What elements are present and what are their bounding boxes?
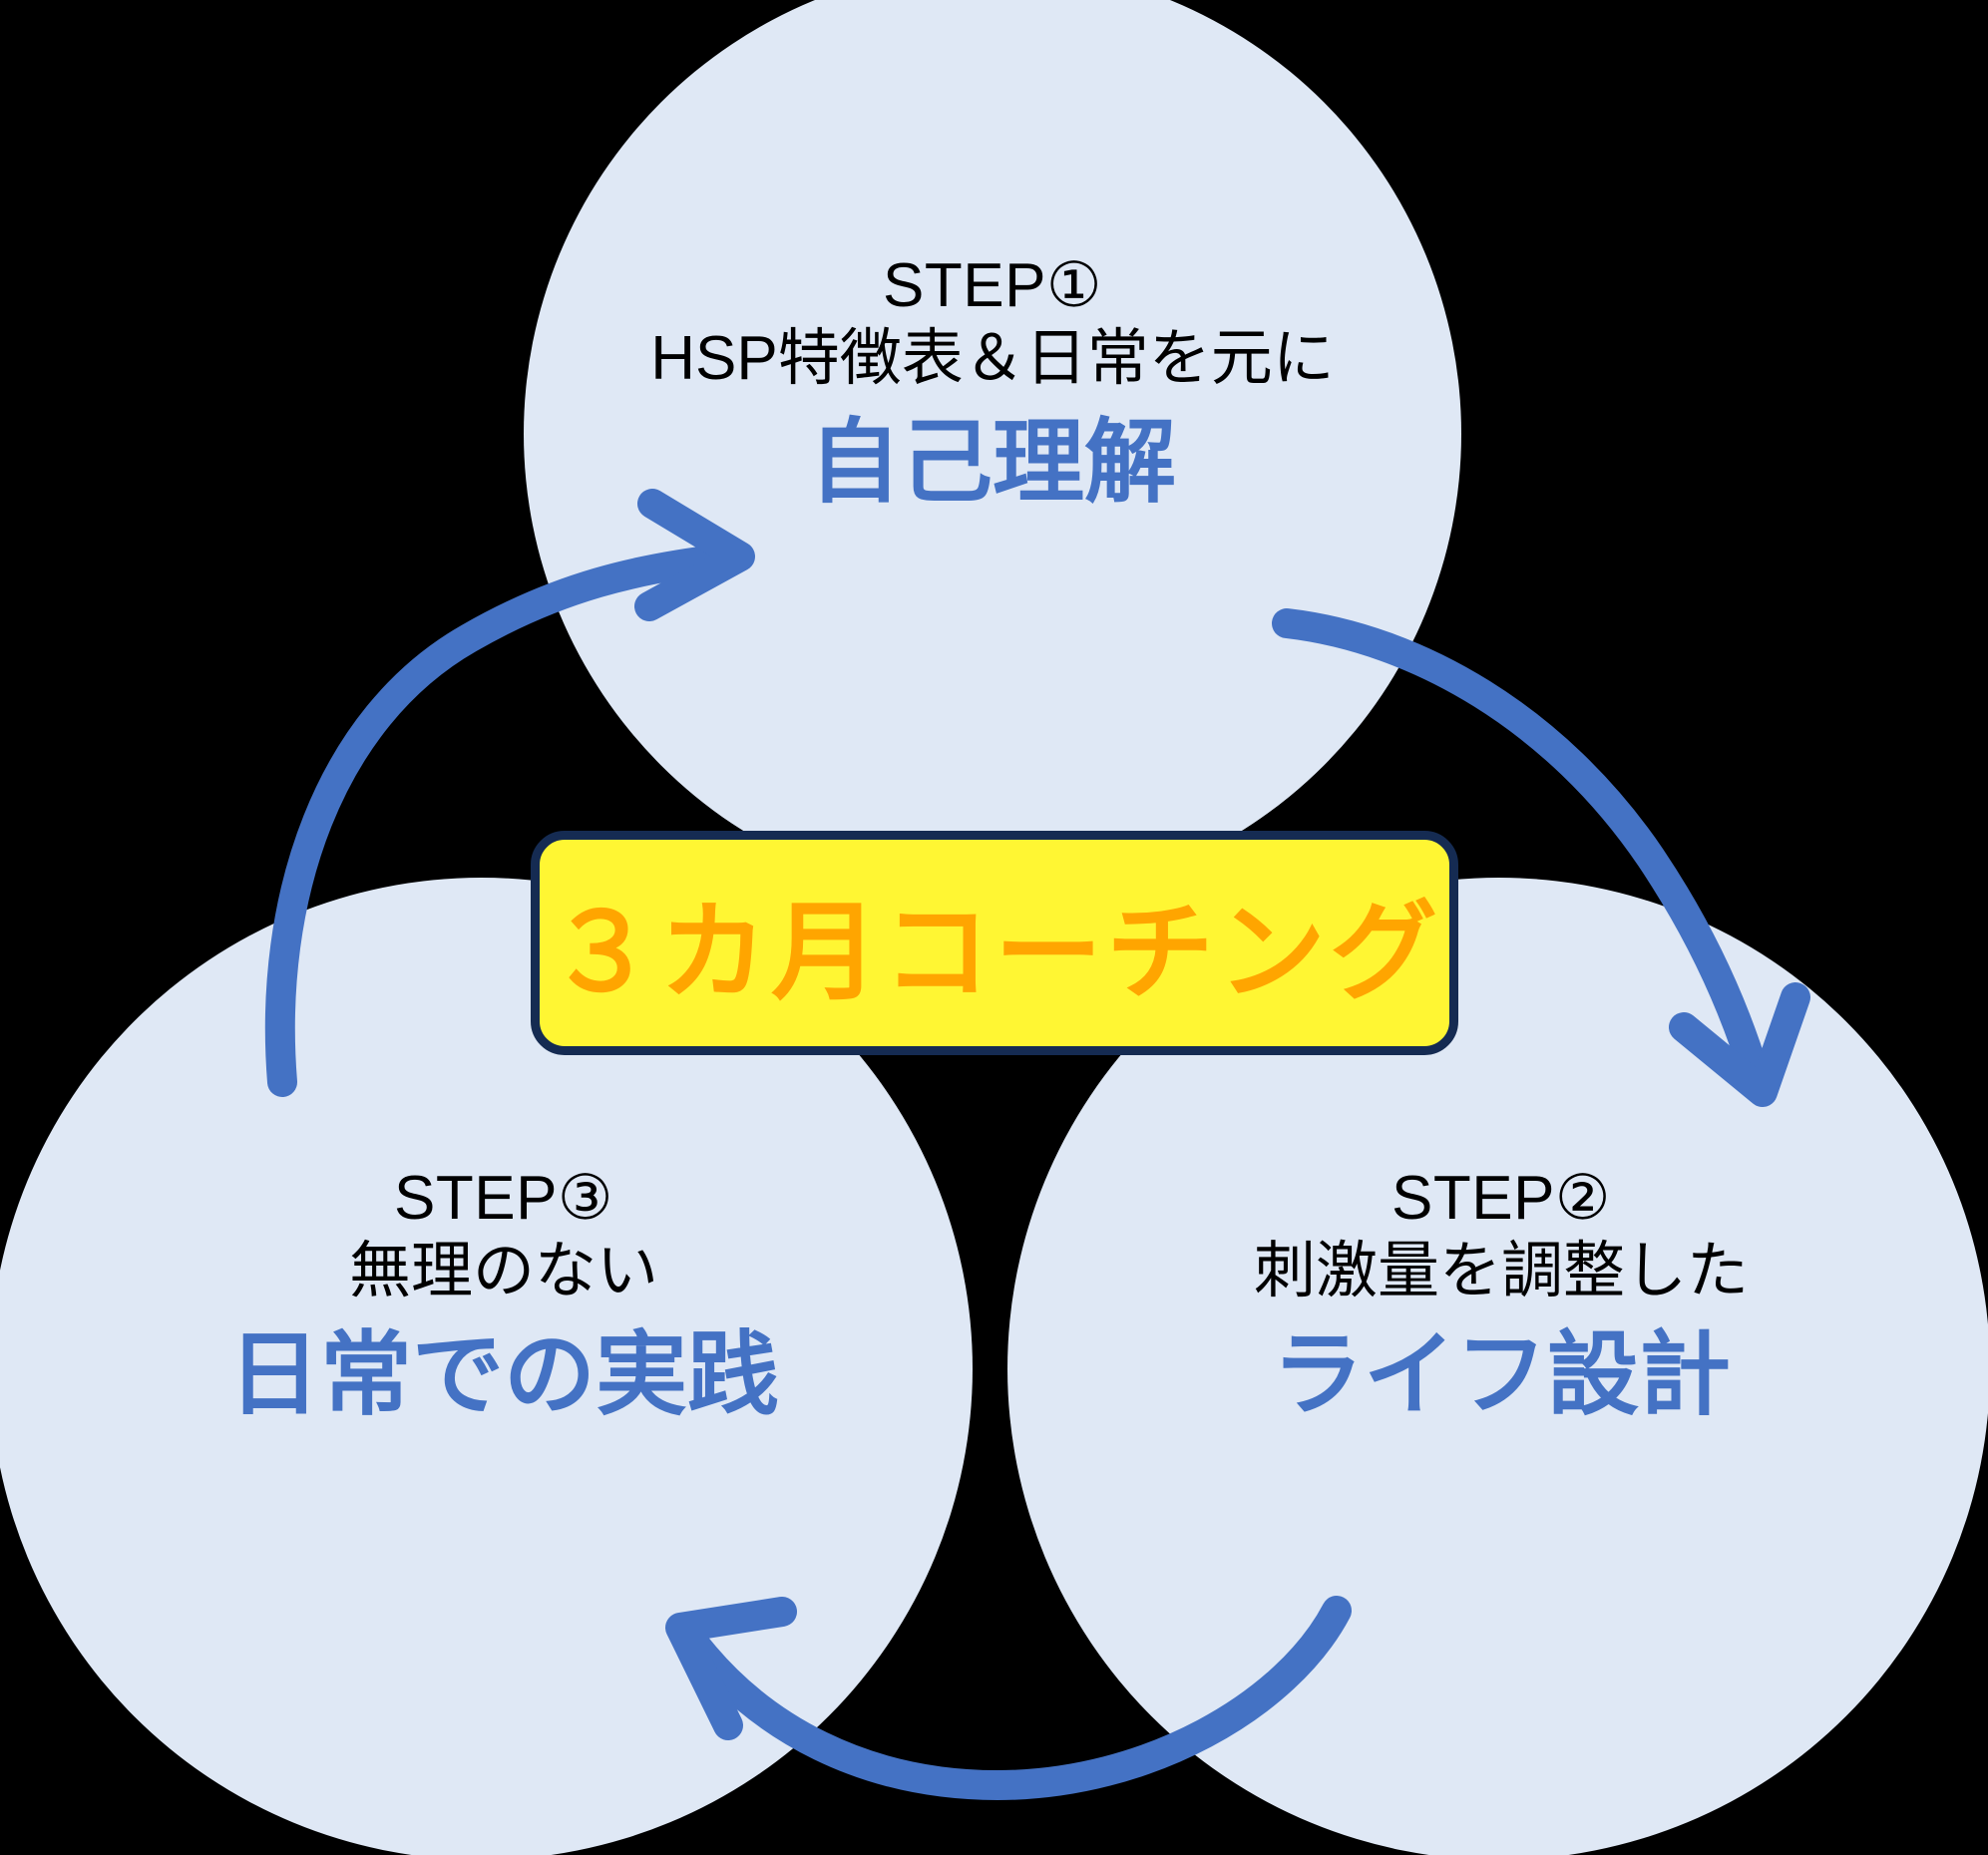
step1-main-label: 自己理解	[419, 409, 1566, 518]
node-step3: STEP③ 無理のない 日常での実践	[65, 1162, 943, 1430]
node-step2: STEP② 刺激量を調整した ライフ設計	[1037, 1162, 1965, 1430]
step2-sub-label: 刺激量を調整した	[1037, 1235, 1965, 1307]
step2-step-label: STEP②	[1037, 1162, 1965, 1235]
diagram-canvas: STEP① HSP特徴表＆日常を元に 自己理解 STEP③ 無理のない 日常での…	[0, 0, 1988, 1855]
center-badge-label: ３カ月コーチング	[548, 866, 1441, 1021]
node-step1: STEP① HSP特徴表＆日常を元に 自己理解	[419, 249, 1566, 518]
center-badge: ３カ月コーチング	[531, 831, 1458, 1055]
step3-step-label: STEP③	[65, 1162, 943, 1235]
step3-sub-label: 無理のない	[65, 1235, 943, 1307]
step3-main-label: 日常での実践	[65, 1321, 943, 1430]
step1-step-label: STEP①	[419, 249, 1566, 322]
step2-main-label: ライフ設計	[1037, 1321, 1965, 1430]
step1-sub-label: HSP特徴表＆日常を元に	[419, 322, 1566, 395]
